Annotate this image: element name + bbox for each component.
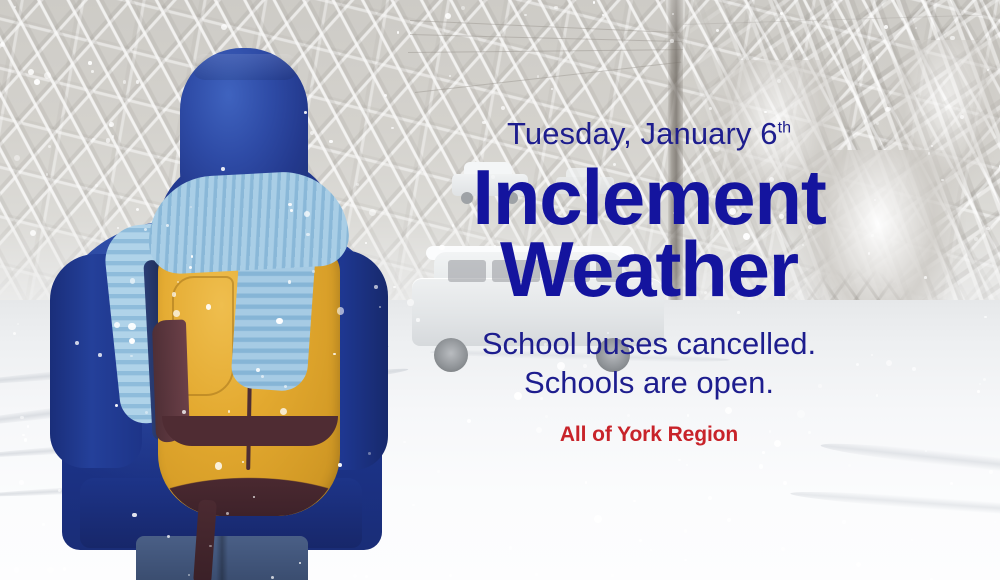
snowflake (337, 307, 345, 315)
snowflake (288, 280, 291, 283)
snowflake (989, 470, 993, 474)
jeans (136, 536, 308, 580)
snowflake (95, 184, 98, 187)
snowflake (842, 520, 846, 524)
snowflake (221, 167, 225, 171)
snowflake (368, 452, 371, 455)
snowflake (384, 94, 387, 97)
snowflake (977, 390, 979, 392)
snowflake (554, 6, 558, 10)
status-message: School buses cancelled. Schools are open… (415, 324, 883, 403)
snowflake (403, 441, 405, 443)
snowflake (172, 292, 176, 296)
snowflake (928, 152, 931, 155)
snowflake (276, 318, 283, 325)
snowflake (670, 39, 674, 43)
snowflake (306, 233, 310, 237)
snowflake (912, 367, 916, 371)
snowflake (397, 31, 399, 33)
snowflake (950, 482, 953, 485)
snowflake (329, 140, 332, 143)
snowflake (28, 69, 34, 75)
snowflake (762, 451, 765, 454)
snowflake (173, 310, 180, 317)
snowflake (63, 567, 67, 571)
snowflake (501, 106, 505, 110)
snowflake (128, 323, 135, 330)
date-ordinal-suffix: th (778, 119, 791, 137)
snowflake (338, 463, 342, 467)
snowflake (777, 79, 781, 83)
snowflake (228, 410, 231, 413)
snowflake (14, 567, 20, 573)
backpack-base (160, 422, 338, 516)
snowflake (924, 276, 927, 279)
headline-line-2: Weather (415, 233, 883, 306)
snowflake (34, 79, 40, 85)
snowflake (310, 131, 314, 135)
snowflake (633, 500, 636, 503)
snowflake (290, 209, 293, 212)
snowflake (365, 575, 368, 578)
snowflake (941, 179, 944, 182)
snowflake (221, 24, 227, 30)
snowflake (407, 299, 413, 305)
child-figure (40, 48, 400, 580)
snowflake (112, 135, 114, 137)
snowflake (46, 173, 49, 176)
page-title: Inclement Weather (415, 161, 883, 306)
snowflake (123, 80, 126, 83)
status-message-line-2: Schools are open. (415, 363, 883, 403)
region-badge: All of York Region (415, 423, 883, 447)
snowflake (177, 281, 179, 283)
snowflake (24, 438, 27, 441)
date-line: Tuesday, January 6th (415, 118, 883, 151)
snowflake (708, 496, 712, 500)
snowflake (14, 155, 20, 161)
snowflake (48, 145, 51, 148)
snowflake (594, 515, 602, 523)
snowflake (304, 111, 307, 114)
snowflake (261, 375, 264, 378)
snowflake (91, 70, 94, 73)
snowflake (960, 115, 964, 119)
snowflake (437, 470, 441, 474)
snowflake (226, 512, 229, 515)
status-message-line-1: School buses cancelled. (415, 324, 883, 364)
snowflake (449, 75, 451, 77)
snowflake (781, 547, 785, 551)
snowflake (848, 464, 851, 467)
hat-fold (192, 54, 298, 80)
snowflake (884, 25, 888, 29)
snowflake (20, 416, 23, 419)
snowflake (114, 322, 120, 328)
snowflake (593, 1, 596, 4)
snowflake (686, 464, 688, 466)
snowflake (109, 124, 112, 127)
snowflake (206, 304, 212, 310)
snowflake (280, 408, 287, 415)
snowflake (986, 227, 989, 230)
snowflake (449, 574, 452, 577)
snowflake (374, 285, 378, 289)
snowflake (106, 138, 110, 142)
snowflake (353, 574, 357, 578)
date-text: Tuesday, January 6 (507, 116, 778, 151)
snowflake (88, 61, 92, 65)
snowflake (191, 255, 193, 257)
snowflake (215, 462, 223, 470)
snowflake (983, 378, 986, 381)
inclement-weather-banner: Tuesday, January 6th Inclement Weather S… (0, 0, 1000, 580)
snowflake (716, 29, 719, 32)
snowflake (75, 341, 79, 345)
snowflake (585, 481, 588, 484)
snowflake (984, 316, 986, 318)
snowflake (98, 353, 102, 357)
snowflake (27, 425, 29, 427)
snowflake (47, 567, 53, 573)
snowflake (19, 480, 24, 485)
snowflake (950, 36, 954, 40)
snowflake (780, 12, 783, 15)
snowflake (284, 385, 287, 388)
announcement-text-block: Tuesday, January 6th Inclement Weather S… (415, 118, 883, 447)
snowflake (130, 278, 135, 283)
snowflake (304, 211, 310, 217)
snowflake (117, 227, 119, 229)
snowflake (379, 306, 381, 308)
